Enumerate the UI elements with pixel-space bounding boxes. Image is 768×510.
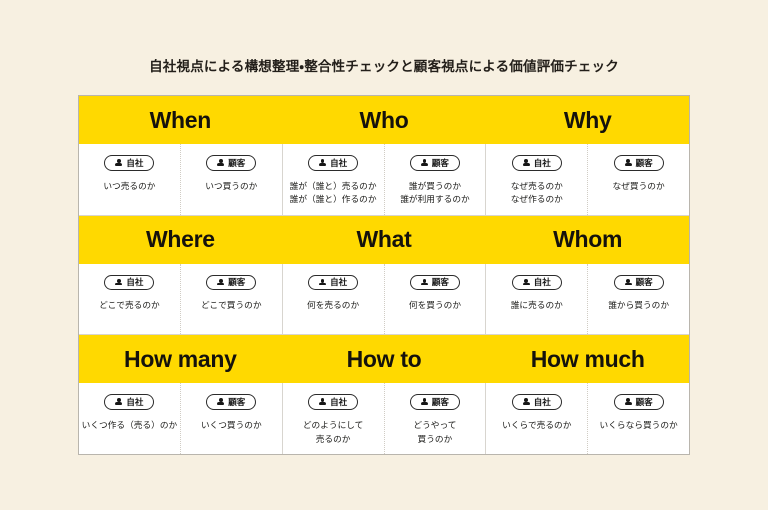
heading-cell-how-to: How to: [282, 335, 486, 383]
pane-customer: 顧客 いくらなら買うのか: [587, 383, 689, 454]
heading-cell-what: What: [282, 216, 486, 264]
pane-text-line: いくつ作る（売る）のか: [82, 419, 178, 432]
badge-customer: 顧客: [410, 155, 460, 171]
pane-text: なぜ売るのか なぜ作るのか: [511, 180, 563, 207]
badge-label: 顧客: [636, 277, 653, 287]
heading-label: Who: [360, 109, 409, 132]
badge-label: 顧客: [228, 277, 245, 287]
pane-text-line: どこで買うのか: [201, 299, 262, 312]
pane-text: 何を買うのか: [409, 299, 461, 312]
pane-text: 誰が買うのか 誰が利用するのか: [400, 180, 470, 207]
badge-company: 自社: [104, 155, 154, 171]
person-icon: [523, 398, 530, 405]
heading-cell-where: Where: [79, 216, 282, 264]
heading-cell-when: When: [79, 96, 282, 144]
pane-text: いつ売るのか: [103, 180, 155, 193]
heading-cell-why: Why: [485, 96, 689, 144]
pane-text: いくらなら買うのか: [600, 419, 678, 432]
heading-cell-whom: Whom: [485, 216, 689, 264]
heading-label: Where: [146, 228, 215, 251]
heading-cell-how-much: How much: [485, 335, 689, 383]
person-icon: [421, 159, 428, 166]
pane-text: いくつ買うのか: [201, 419, 262, 432]
person-icon: [421, 279, 428, 286]
pane-text-line: 何を買うのか: [409, 299, 461, 312]
heading-label: How many: [124, 348, 237, 371]
badge-customer: 顧客: [206, 155, 256, 171]
pane-text-line: なぜ売るのか: [511, 180, 563, 193]
pane-text-line: いつ売るのか: [103, 180, 155, 193]
badge-label: 顧客: [432, 277, 449, 287]
badge-label: 顧客: [636, 397, 653, 407]
pane-text-line: なぜ買うのか: [613, 180, 665, 193]
person-icon: [319, 398, 326, 405]
person-icon: [319, 159, 326, 166]
badge-customer: 顧客: [614, 155, 664, 171]
pane-text: どうやって 買うのか: [413, 419, 456, 446]
page-title: 自社視点による構想整理・整合性チェックと顧客視点による価値評価チェック: [0, 55, 768, 75]
cell-group-whom: 自社 誰に売るのか 顧客 誰から買うのか: [485, 264, 689, 335]
pane-company: 自社 誰が（誰と）売るのか 誰が（誰と）作るのか: [283, 144, 384, 215]
badge-label: 自社: [330, 158, 347, 168]
pane-company: 自社 どこで売るのか: [79, 264, 180, 335]
pane-customer: 顧客 いくつ買うのか: [180, 383, 282, 454]
pane-text: いつ買うのか: [205, 180, 257, 193]
heading-band: Where What Whom: [79, 216, 689, 264]
heading-label: How to: [347, 348, 422, 371]
heading-label: What: [357, 228, 412, 251]
person-icon: [319, 279, 326, 286]
matrix-row: Where What Whom 自社: [79, 215, 689, 335]
pane-text-line: 売るのか: [303, 433, 364, 446]
cell-group-why: 自社 なぜ売るのか なぜ作るのか 顧客 なぜ買うのか: [485, 144, 689, 215]
pane-customer: 顧客 何を買うのか: [384, 264, 486, 335]
badge-customer: 顧客: [206, 275, 256, 291]
pane-customer: 顧客 なぜ買うのか: [587, 144, 689, 215]
badge-label: 顧客: [432, 158, 449, 168]
pane-company: 自社 誰に売るのか: [486, 264, 587, 335]
heading-band: How many How to How much: [79, 335, 689, 383]
badge-label: 自社: [330, 277, 347, 287]
person-icon: [625, 159, 632, 166]
5w2h-matrix: When Who Why 自社 いつ: [78, 95, 690, 455]
pane-customer: 顧客 いつ買うのか: [180, 144, 282, 215]
heading-label: Why: [564, 109, 612, 132]
pane-text-line: いくつ買うのか: [201, 419, 262, 432]
badge-label: 自社: [534, 277, 551, 287]
pane-text-line: 何を売るのか: [307, 299, 359, 312]
badge-company: 自社: [104, 394, 154, 410]
person-icon: [217, 159, 224, 166]
badge-customer: 顧客: [614, 275, 664, 291]
slide-canvas: 自社視点による構想整理・整合性チェックと顧客視点による価値評価チェック When…: [0, 0, 768, 510]
badge-label: 自社: [534, 397, 551, 407]
pane-company: 自社 なぜ売るのか なぜ作るのか: [486, 144, 587, 215]
matrix-row: When Who Why 自社 いつ: [79, 96, 689, 215]
pane-company: 自社 いくつ作る（売る）のか: [79, 383, 180, 454]
person-icon: [523, 279, 530, 286]
pane-text: 誰が（誰と）売るのか 誰が（誰と）作るのか: [290, 180, 377, 207]
heading-label: Whom: [553, 228, 622, 251]
badge-label: 顧客: [432, 397, 449, 407]
badge-company: 自社: [104, 275, 154, 291]
person-icon: [625, 279, 632, 286]
cell-group-who: 自社 誰が（誰と）売るのか 誰が（誰と）作るのか 顧客 誰: [282, 144, 486, 215]
person-icon: [217, 398, 224, 405]
badge-customer: 顧客: [410, 275, 460, 291]
pane-text: 何を売るのか: [307, 299, 359, 312]
person-icon: [115, 159, 122, 166]
person-icon: [421, 398, 428, 405]
cell-group-how-to: 自社 どのようにして 売るのか 顧客 どうやって: [282, 383, 486, 454]
pane-text-line: 誰が利用するのか: [400, 193, 470, 206]
pane-company: 自社 いつ売るのか: [79, 144, 180, 215]
cell-group-how-much: 自社 いくらで売るのか 顧客 いくらなら買うのか: [485, 383, 689, 454]
pane-text-line: どのようにして: [303, 419, 364, 432]
person-icon: [115, 398, 122, 405]
badge-customer: 顧客: [410, 394, 460, 410]
badge-label: 自社: [534, 158, 551, 168]
matrix-row: How many How to How much 自社: [79, 334, 689, 454]
pane-text: どのようにして 売るのか: [303, 419, 364, 446]
pane-text-line: 誰が（誰と）作るのか: [290, 193, 377, 206]
pane-customer: 顧客 誰が買うのか 誰が利用するのか: [384, 144, 486, 215]
pane-text-line: どうやって: [413, 419, 456, 432]
pane-company: 自社 いくらで売るのか: [486, 383, 587, 454]
pane-text-line: いくらで売るのか: [502, 419, 571, 432]
heading-label: How much: [531, 348, 645, 371]
cell-group-how-many: 自社 いくつ作る（売る）のか 顧客 いくつ買うのか: [79, 383, 282, 454]
cell-group-what: 自社 何を売るのか 顧客 何を買うのか: [282, 264, 486, 335]
badge-label: 自社: [126, 158, 143, 168]
badge-company: 自社: [512, 275, 562, 291]
person-icon: [625, 398, 632, 405]
badge-customer: 顧客: [206, 394, 256, 410]
cell-group-when: 自社 いつ売るのか 顧客 いつ買うのか: [79, 144, 282, 215]
pane-text: どこで買うのか: [201, 299, 262, 312]
pane-text-line: 買うのか: [413, 433, 456, 446]
pane-text: 誰に売るのか: [511, 299, 563, 312]
badge-company: 自社: [512, 394, 562, 410]
pane-customer: 顧客 どうやって 買うのか: [384, 383, 486, 454]
badge-label: 自社: [126, 397, 143, 407]
heading-band: When Who Why: [79, 96, 689, 144]
badge-company: 自社: [308, 275, 358, 291]
badge-label: 自社: [330, 397, 347, 407]
badge-label: 自社: [126, 277, 143, 287]
badge-company: 自社: [308, 155, 358, 171]
heading-cell-who: Who: [282, 96, 486, 144]
cell-group-where: 自社 どこで売るのか 顧客 どこで買うのか: [79, 264, 282, 335]
heading-label: When: [150, 109, 211, 132]
pane-text-line: 誰に売るのか: [511, 299, 563, 312]
pane-customer: 顧客 誰から買うのか: [587, 264, 689, 335]
pane-text: 誰から買うのか: [608, 299, 669, 312]
pane-text-line: いつ買うのか: [205, 180, 257, 193]
person-icon: [523, 159, 530, 166]
pane-company: 自社 何を売るのか: [283, 264, 384, 335]
pane-text-line: いくらなら買うのか: [600, 419, 678, 432]
badge-company: 自社: [308, 394, 358, 410]
pane-company: 自社 どのようにして 売るのか: [283, 383, 384, 454]
pane-text-line: どこで売るのか: [99, 299, 160, 312]
heading-cell-how-many: How many: [79, 335, 282, 383]
pane-text-line: なぜ作るのか: [511, 193, 563, 206]
badge-label: 顧客: [636, 158, 653, 168]
badge-company: 自社: [512, 155, 562, 171]
badge-customer: 顧客: [614, 394, 664, 410]
badge-label: 顧客: [228, 397, 245, 407]
pane-text-line: 誰が（誰と）売るのか: [290, 180, 377, 193]
pane-customer: 顧客 どこで買うのか: [180, 264, 282, 335]
pane-text-line: 誰から買うのか: [608, 299, 669, 312]
matrix-body-row: 自社 いくつ作る（売る）のか 顧客 いくつ買うのか: [79, 383, 689, 454]
pane-text: いくらで売るのか: [502, 419, 571, 432]
person-icon: [217, 279, 224, 286]
badge-label: 顧客: [228, 158, 245, 168]
matrix-body-row: 自社 どこで売るのか 顧客 どこで買うのか: [79, 264, 689, 335]
pane-text-line: 誰が買うのか: [400, 180, 470, 193]
pane-text: なぜ買うのか: [613, 180, 665, 193]
person-icon: [115, 279, 122, 286]
matrix-body-row: 自社 いつ売るのか 顧客 いつ買うのか: [79, 144, 689, 215]
pane-text: いくつ作る（売る）のか: [82, 419, 178, 432]
pane-text: どこで売るのか: [99, 299, 160, 312]
